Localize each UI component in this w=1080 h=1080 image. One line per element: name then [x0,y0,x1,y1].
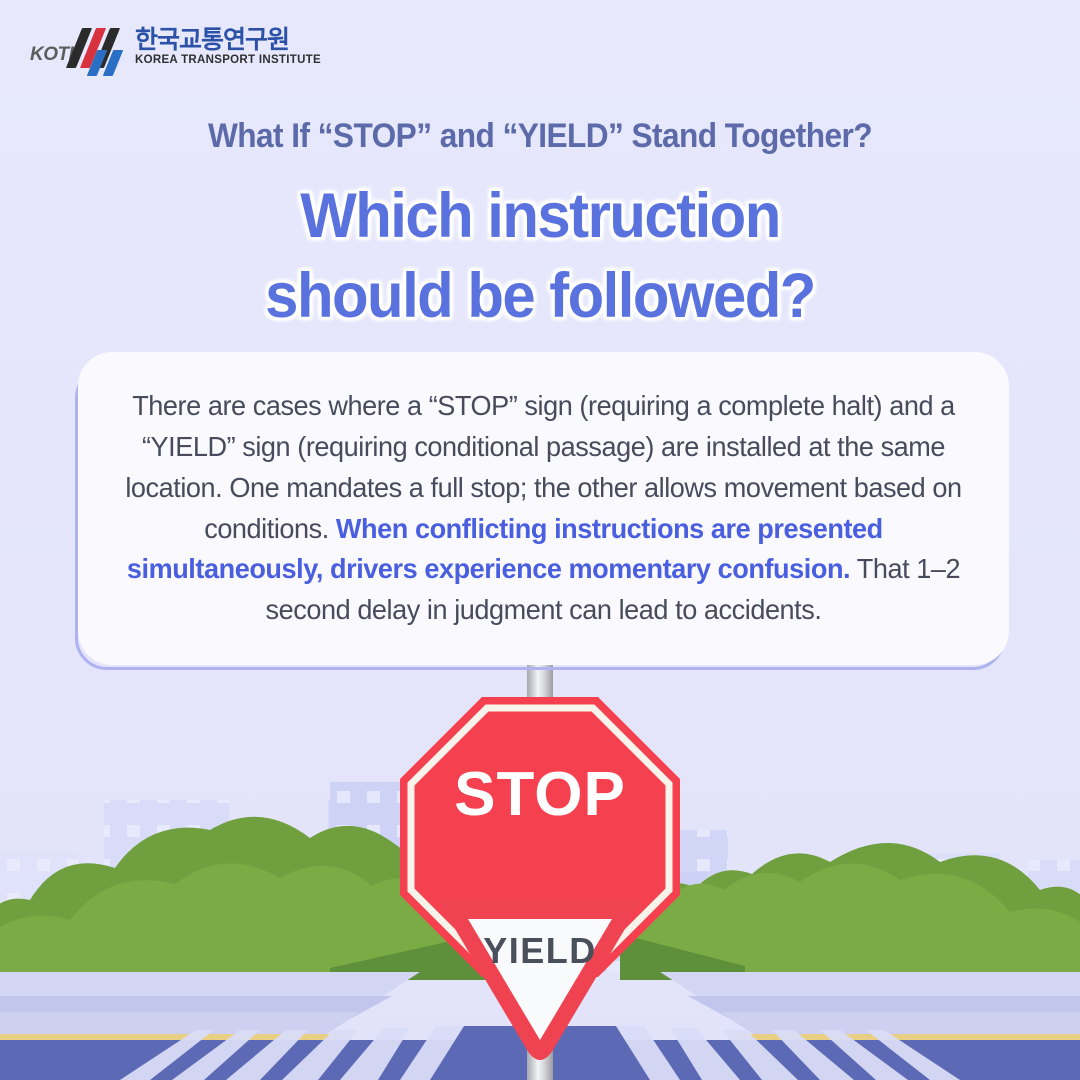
kicker-text: What If “STOP” and “YIELD” Stand Togethe… [38,117,1042,156]
headline-line-2: should be followed? [27,256,1053,336]
body-card-text: There are cases where a “STOP” sign (req… [85,386,1002,632]
yield-sign: YIELD [440,898,639,1060]
koti-logo: KOTI 한국교통연구원 KOREA TRANSPORT INSTITUTE [30,24,321,70]
page-title: Which instruction should be followed? [27,176,1053,336]
koti-name-ko: 한국교통연구원 [135,27,321,53]
koti-logo-mark: KOTI [30,24,125,70]
koti-name-en: KOREA TRANSPORT INSTITUTE [135,54,321,67]
koti-logo-text: 한국교통연구원 KOREA TRANSPORT INSTITUTE [135,27,321,67]
poster-canvas: STOP YIELD KOTI 한국교통연구원 KOREA TRANSPORT … [0,0,1080,1080]
headline-line-1: Which instruction [27,176,1053,256]
body-card-surface: There are cases where a “STOP” sign (req… [78,352,1009,665]
body-card: There are cases where a “STOP” sign (req… [72,352,1008,674]
yield-sign-label: YIELD [483,930,597,971]
stop-sign-label: STOP [454,760,626,829]
